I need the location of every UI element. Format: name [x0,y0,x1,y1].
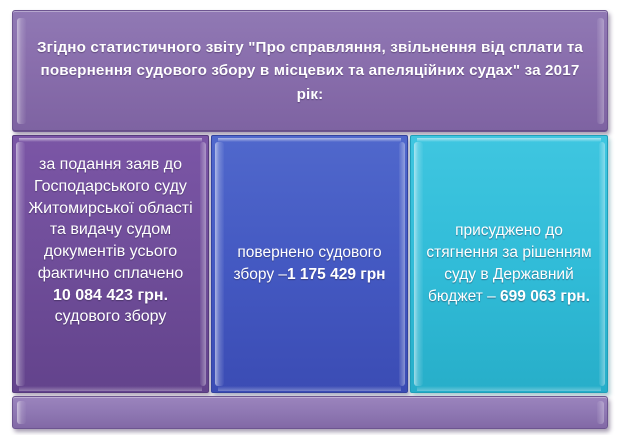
bevel-highlight-bottom-icon [19,386,202,391]
column-awarded[interactable]: присуджено до стягнення за рішенням суду… [410,135,608,393]
column-paid-tail: судового збору [55,308,167,325]
footer-bar [12,396,608,429]
column-returned-text: повернено судового збору –1 175 429 грн [212,242,407,286]
column-returned[interactable]: повернено судового збору –1 175 429 грн [211,135,408,393]
column-paid[interactable]: за подання заяв до Господарського суду Ж… [12,135,209,393]
column-awarded-amount: 699 063 грн. [500,288,590,305]
header-banner: Згідно статистичного звіту "Про справлян… [12,10,608,132]
column-paid-text: за подання заяв до Господарського суду Ж… [13,154,208,328]
bevel-highlight-bottom-icon [417,386,601,391]
column-paid-lead: за подання заяв до Господарського суду Ж… [28,156,192,282]
header-title: Згідно статистичного звіту "Про справлян… [30,36,590,105]
bevel-highlight-top-icon [19,138,202,142]
bevel-highlight-bottom-icon [218,386,401,391]
bevel-highlight-top-icon [218,138,401,142]
column-paid-amount: 10 084 423 грн. [53,287,168,304]
column-awarded-text: присуджено до стягнення за рішенням суду… [411,220,607,308]
columns-row: за подання заяв до Господарського суду Ж… [12,135,608,393]
slide-canvas: Згідно статистичного звіту "Про справлян… [0,0,620,435]
bevel-highlight-top-icon [417,138,601,142]
column-returned-amount: 1 175 429 грн [287,266,386,283]
